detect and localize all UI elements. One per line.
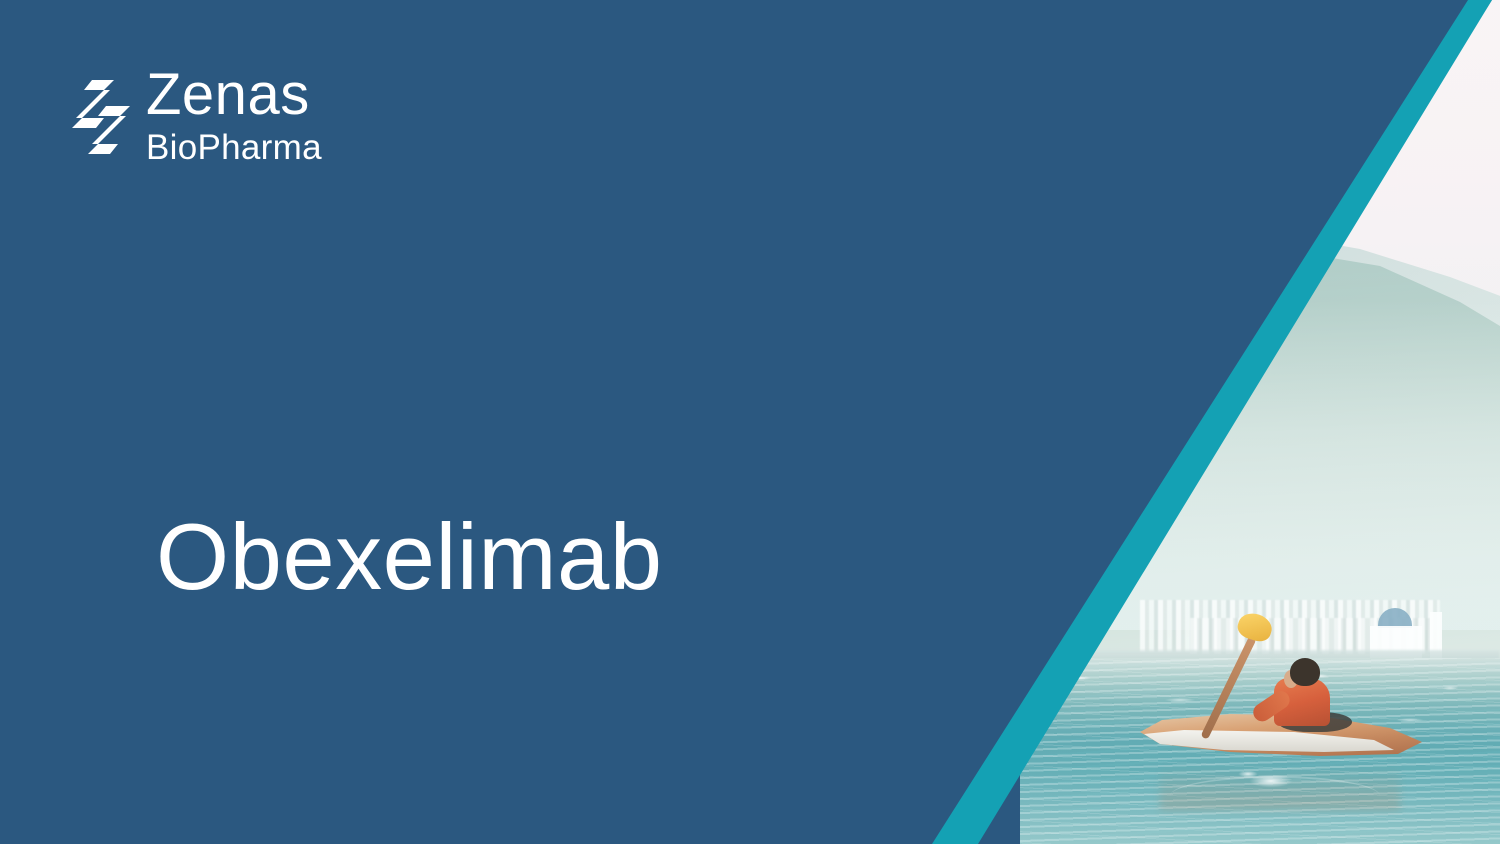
title-slide: Zenas BioPharma Obexelimab for Relapsing… xyxy=(0,0,1500,844)
title-line-2: for Relapsing xyxy=(156,832,896,844)
landscape-photo xyxy=(1020,0,1500,844)
page-title: Obexelimab for Relapsing Multiple Sclero… xyxy=(156,282,896,844)
logo-brand-name: Zenas xyxy=(146,66,322,124)
water-splash xyxy=(1236,768,1306,794)
lightning-bolt-icon xyxy=(70,76,132,160)
title-line-1: Obexelimab xyxy=(156,502,896,612)
logo-wordmark: Zenas BioPharma xyxy=(146,66,322,165)
logo-brand-descriptor: BioPharma xyxy=(146,130,322,165)
company-logo: Zenas BioPharma xyxy=(70,66,322,165)
paddler-head xyxy=(1290,658,1320,686)
kayaker xyxy=(1140,672,1430,812)
